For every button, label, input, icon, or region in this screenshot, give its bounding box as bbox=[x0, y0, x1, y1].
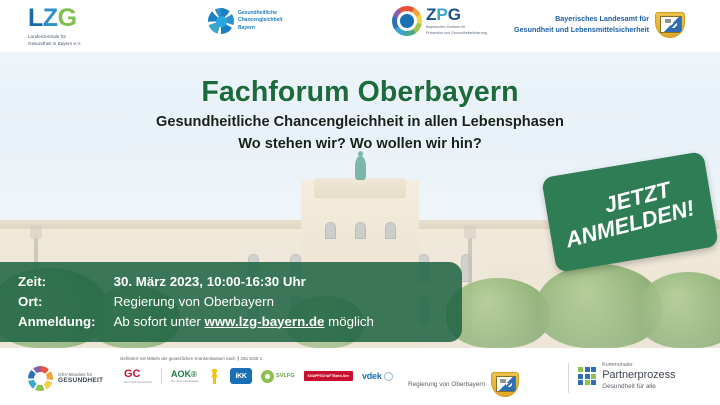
partnerprozess-grid-icon bbox=[578, 367, 596, 385]
subtitle-line-2: Wo stehen wir? Wo wollen wir hin? bbox=[0, 136, 720, 152]
partnerprozess-line-3: Gesundheit für alle bbox=[602, 383, 675, 391]
regierung-label: Regierung von Oberbayern bbox=[408, 381, 485, 388]
zpg-wordmark: ZPG bbox=[426, 6, 487, 23]
detail-row-anmeldung: Anmeldung: Ab sofort unter www.lzg-bayer… bbox=[18, 311, 374, 331]
detail-label-anmeldung: Anmeldung: bbox=[18, 311, 114, 331]
logo-kommunaler-partnerprozess: Kommunaler Partnerprozess Gesundheit für… bbox=[578, 362, 675, 391]
funding-note: Gefördert mit Mitteln der gesetzlichen K… bbox=[120, 356, 263, 361]
detail-value-zeit: 30. März 2023, 10:00-16:30 Uhr bbox=[114, 271, 374, 291]
subtitle-line-1: Gesundheitliche Chancengleichheit in all… bbox=[0, 114, 720, 130]
knappschaft-line-1: KNAPPSCHAFT bbox=[308, 374, 334, 379]
event-flyer: LZG Landeszentrale für Gesundheit in Bay… bbox=[0, 0, 720, 405]
partnerprozess-line-1: Kommunaler bbox=[602, 362, 675, 369]
logo-svlfg: SVLFG bbox=[261, 370, 295, 383]
logo-gesundheitliche-chancengleichheit: Gesundheitliche Chancengleichheit Bayern bbox=[208, 8, 282, 34]
aok-sub: Die Gesundheitskasse bbox=[171, 380, 199, 383]
anmeldung-prefix: Ab sofort unter bbox=[114, 314, 205, 329]
zpg-circle-icon bbox=[392, 6, 422, 36]
detail-value-ort: Regierung von Oberbayern bbox=[114, 291, 374, 311]
gkv-spitzenverband-mark: GC bbox=[124, 368, 141, 380]
svlfg-mark: SVLFG bbox=[276, 373, 295, 379]
lzg-subtitle: Landeszentrale für Gesundheit in Bayern … bbox=[28, 34, 81, 47]
registration-link[interactable]: www.lzg-bayern.de bbox=[204, 314, 324, 329]
logo-bkk bbox=[208, 369, 221, 384]
bavaria-coat-of-arms-icon-footer bbox=[491, 372, 519, 397]
logo-gkv-buendnis: GKV-Bündnis für GESUNDHEIT bbox=[28, 366, 103, 391]
zpg-subtitle: Bayerisches Zentrum für Prävention und G… bbox=[426, 25, 487, 35]
gkv-spitzenverband-sub: GKV-Spitzenverband bbox=[124, 381, 152, 384]
svlfg-circle-icon bbox=[261, 370, 274, 383]
detail-label-ort: Ort: bbox=[18, 291, 114, 311]
detail-label-zeit: Zeit: bbox=[18, 271, 114, 291]
logo-regierung-von-oberbayern: Regierung von Oberbayern bbox=[408, 372, 519, 397]
detail-row-ort: Ort: Regierung von Oberbayern bbox=[18, 291, 374, 311]
divider bbox=[161, 368, 162, 384]
logo-lzg: LZG Landeszentrale für Gesundheit in Bay… bbox=[28, 6, 81, 47]
logo-zpg: ZPG Bayerisches Zentrum für Prävention u… bbox=[392, 6, 487, 36]
logo-gkv-spitzenverband: GC GKV-Spitzenverband bbox=[124, 369, 152, 384]
event-details-band: Zeit: 30. März 2023, 10:00-16:30 Uhr Ort… bbox=[0, 262, 462, 342]
anmeldung-suffix: möglich bbox=[324, 314, 374, 329]
gkv-circle-icon bbox=[28, 366, 53, 391]
logo-ikk: iKK bbox=[230, 368, 252, 384]
divider bbox=[568, 363, 569, 393]
insurer-logo-row: GC GKV-Spitzenverband AOK® Die Gesundhei… bbox=[124, 368, 393, 384]
chancengleichheit-label: Gesundheitliche Chancengleichheit Bayern bbox=[238, 10, 282, 32]
header-logo-bar: LZG Landeszentrale für Gesundheit in Bay… bbox=[0, 0, 720, 52]
logo-bayerisches-landesamt: Bayerisches Landesamt für Gesundheit und… bbox=[514, 12, 685, 38]
page-title: Fachforum Oberbayern bbox=[0, 76, 720, 109]
lgl-label: Bayerisches Landesamt für Gesundheit und… bbox=[514, 14, 649, 36]
detail-value-anmeldung: Ab sofort unter www.lzg-bayern.de möglic… bbox=[114, 311, 374, 331]
gkv-line-2: GESUNDHEIT bbox=[58, 377, 103, 385]
footer-partner-bar: Gefördert mit Mitteln der gesetzlichen K… bbox=[0, 348, 720, 405]
partnerprozess-line-2: Partnerprozess bbox=[602, 369, 675, 383]
lzg-wordmark: LZG bbox=[28, 6, 77, 31]
bavaria-coat-of-arms-icon bbox=[655, 12, 685, 38]
detail-row-zeit: Zeit: 30. März 2023, 10:00-16:30 Uhr bbox=[18, 271, 374, 291]
aok-mark: AOK bbox=[171, 369, 191, 379]
logo-vdek: vdek bbox=[362, 371, 393, 381]
logo-aok: AOK® Die Gesundheitskasse bbox=[171, 370, 199, 383]
knappschaft-line-2: Bahn-See bbox=[333, 374, 349, 379]
chancengleichheit-circle-icon bbox=[208, 8, 234, 34]
logo-knappschaft: KNAPPSCHAFT Bahn-See bbox=[304, 371, 353, 382]
